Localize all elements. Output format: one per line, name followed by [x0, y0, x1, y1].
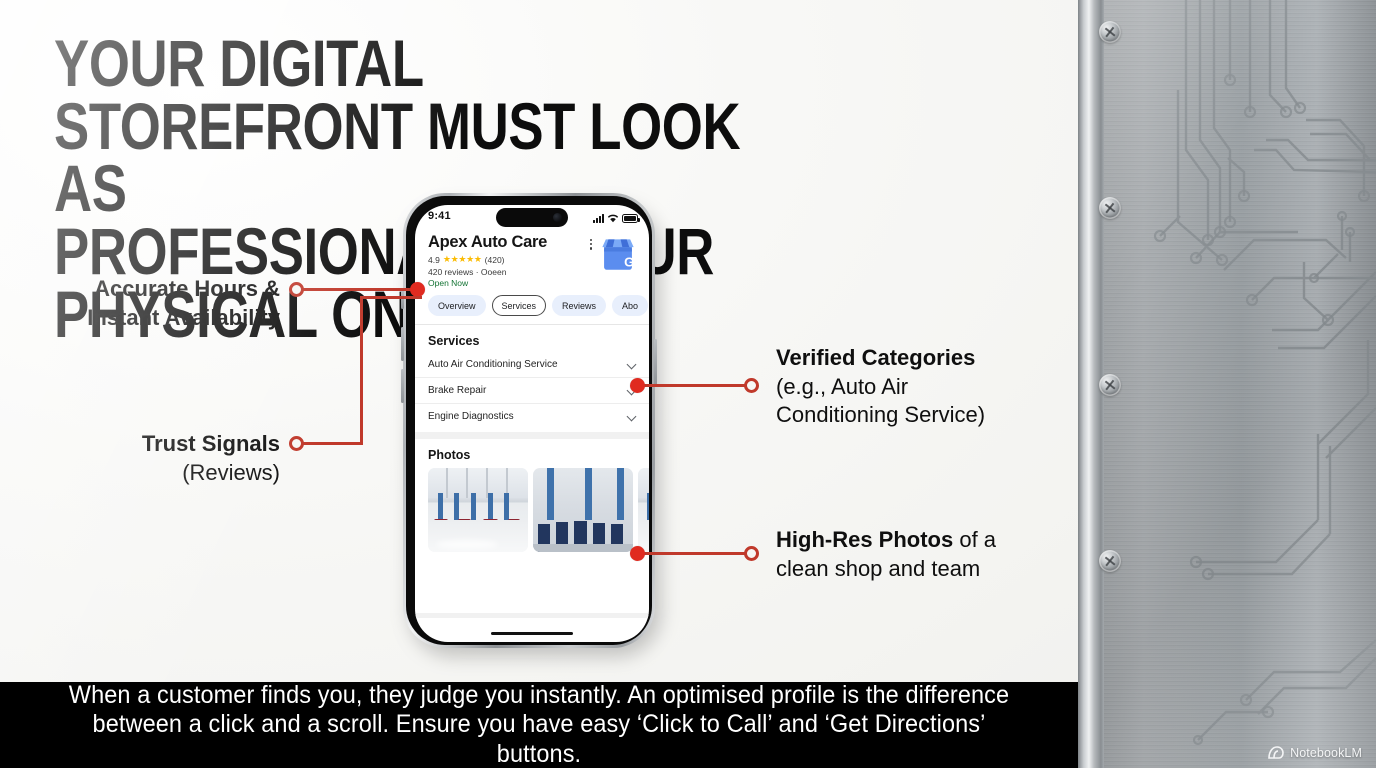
front-camera-icon: [553, 213, 562, 222]
chevron-down-icon[interactable]: [627, 360, 636, 369]
slide-root: YOUR DIGITAL STOREFRONT MUST LOOK AS PRO…: [0, 0, 1376, 768]
service-label: Brake Repair: [428, 385, 486, 396]
rating-value: 4.9: [428, 255, 440, 265]
status-bar: 9:41: [415, 205, 649, 231]
annotation-line-1: High-Res Photos of a: [776, 526, 1076, 555]
annotation-trust-signals: Trust Signals (Reviews): [40, 430, 280, 487]
phone-frame: 9:41: [403, 193, 655, 648]
panel-screw: [1099, 21, 1121, 43]
volume-down-button[interactable]: [401, 369, 404, 403]
metal-circuit-panel: NotebookLM: [1078, 0, 1376, 768]
chevron-down-icon[interactable]: [627, 386, 636, 395]
home-indicator[interactable]: [491, 632, 573, 636]
status-clock: 9:41: [428, 210, 451, 222]
slide-stage: YOUR DIGITAL STOREFRONT MUST LOOK AS PRO…: [0, 0, 1078, 682]
phone-screen: 9:41: [415, 205, 649, 642]
annotation-line-2: clean shop and team: [776, 555, 1076, 584]
business-header: Apex Auto Care 4.9 ★★★★★ (420) 420 revie…: [415, 231, 649, 288]
volume-up-button[interactable]: [401, 327, 404, 361]
connector-ring: [744, 546, 759, 561]
team-in-uniform-photo[interactable]: [533, 468, 633, 552]
notebooklm-logo-icon: [1268, 746, 1284, 760]
service-label: Auto Air Conditioning Service: [428, 359, 558, 370]
rating-count: (420): [485, 255, 505, 265]
tab-services[interactable]: Services: [492, 295, 547, 316]
battery-full-icon: [622, 214, 638, 223]
service-row-engine-diagnostics[interactable]: Engine Diagnostics: [415, 403, 649, 429]
power-button[interactable]: [654, 339, 657, 387]
service-row-brake-repair[interactable]: Brake Repair: [415, 377, 649, 403]
third-photo-clipped[interactable]: [638, 468, 649, 552]
annotation-line-1: Verified Categories: [776, 344, 1056, 373]
annotation-verified-categories: Verified Categories (e.g., Auto Air Cond…: [776, 344, 1056, 430]
dynamic-island: [496, 208, 568, 227]
service-row-auto-air-conditioning[interactable]: Auto Air Conditioning Service: [415, 352, 649, 377]
watermark-label: NotebookLM: [1290, 746, 1362, 760]
annotation-bold: High-Res Photos: [776, 527, 953, 552]
services-section-title: Services: [415, 325, 649, 352]
notebooklm-watermark: NotebookLM: [1268, 746, 1362, 760]
profile-tabs: Overview Services Reviews Abo: [415, 288, 649, 316]
connector-ring: [744, 378, 759, 393]
google-business-storefront-icon: G: [597, 235, 639, 275]
phone-bezel: 9:41: [406, 196, 652, 645]
panel-screw: [1099, 197, 1121, 219]
annotation-regular: of a: [953, 527, 996, 552]
annotation-line-3: Conditioning Service): [776, 401, 1056, 430]
panel-sheen: [1078, 0, 1376, 768]
open-status-badge: Open Now: [428, 278, 636, 288]
panel-screw: [1099, 374, 1121, 396]
annotation-line-1: Trust Signals: [40, 430, 280, 459]
workshop-interior-photo[interactable]: [428, 468, 528, 552]
photos-carousel[interactable]: [415, 466, 649, 552]
kebab-menu-icon[interactable]: [590, 239, 592, 250]
tab-overview[interactable]: Overview: [428, 295, 486, 316]
annotation-line-2: Instant Availability: [40, 304, 280, 333]
service-label: Engine Diagnostics: [428, 411, 514, 422]
caption-bar: When a customer finds you, they judge yo…: [0, 682, 1078, 768]
scroll-indicator[interactable]: [415, 613, 649, 618]
svg-text:G: G: [624, 254, 634, 269]
wifi-icon: [607, 213, 619, 223]
annotation-line-2: (e.g., Auto Air: [776, 373, 1056, 402]
tab-reviews[interactable]: Reviews: [552, 295, 606, 316]
star-rating-icon: ★★★★★: [443, 254, 482, 265]
phone-mockup: 9:41: [403, 193, 661, 655]
annotation-line-2: (Reviews): [40, 459, 280, 488]
panel-screw: [1099, 550, 1121, 572]
signal-bars-icon: [593, 213, 604, 223]
section-gap: [415, 432, 649, 439]
annotation-high-res-photos: High-Res Photos of a clean shop and team: [776, 526, 1076, 583]
mute-switch[interactable]: [401, 289, 404, 309]
tab-about[interactable]: Abo: [612, 295, 648, 316]
caption-text: When a customer finds you, they judge yo…: [64, 681, 1013, 768]
annotation-line-1: Accurate Hours &: [40, 275, 280, 304]
chevron-down-icon[interactable]: [627, 412, 636, 421]
connector-ring: [289, 436, 304, 451]
photos-section-title: Photos: [415, 439, 649, 466]
status-indicators: [593, 211, 638, 223]
annotation-accurate-hours: Accurate Hours & Instant Availability: [40, 275, 280, 332]
